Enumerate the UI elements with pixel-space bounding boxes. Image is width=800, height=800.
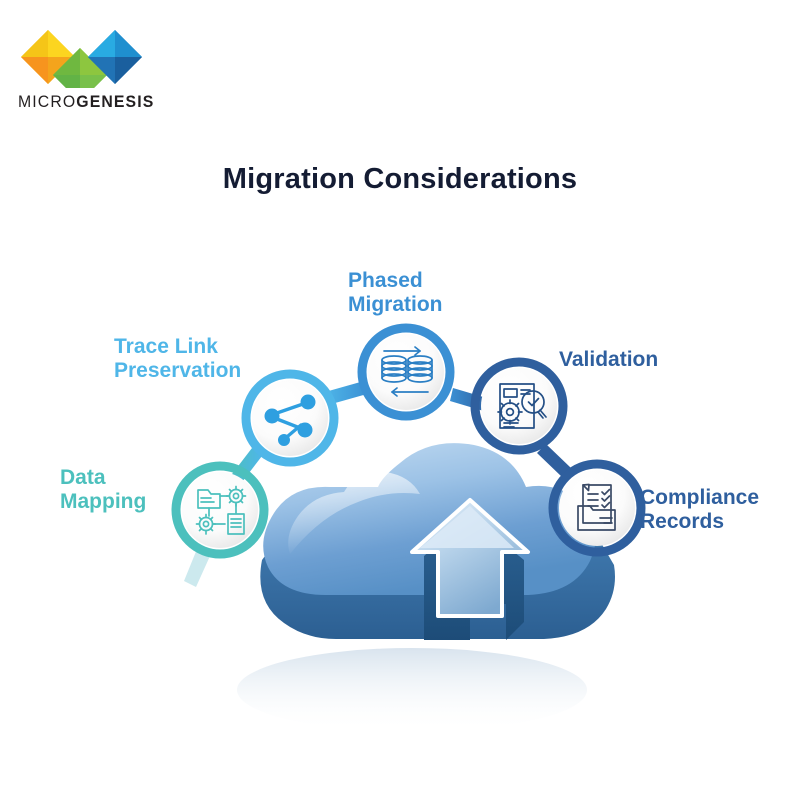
node-label-trace-link-preservation: Trace Link Preservation — [114, 335, 241, 383]
node-disc-compliance-records — [559, 470, 635, 546]
node-label-data-mapping: Data Mapping — [60, 466, 146, 514]
cloud-reflection — [237, 648, 587, 732]
node-compliance-records[interactable] — [553, 464, 641, 552]
node-trace-link-preservation[interactable] — [246, 374, 334, 462]
node-phased-migration[interactable] — [362, 328, 450, 416]
node-data-mapping[interactable] — [176, 466, 264, 554]
node-disc-data-mapping — [182, 472, 258, 548]
node-disc-trace-link — [252, 380, 328, 456]
node-label-validation: Validation — [559, 348, 658, 372]
migration-considerations-diagram — [0, 0, 800, 800]
infographic-canvas: MICROGENESIS Migration Considerations — [0, 0, 800, 800]
node-label-compliance-records: Compliance Records — [640, 486, 759, 534]
node-validation[interactable] — [475, 362, 563, 450]
node-disc-validation — [481, 368, 557, 444]
node-label-phased-migration: Phased Migration — [348, 269, 443, 317]
